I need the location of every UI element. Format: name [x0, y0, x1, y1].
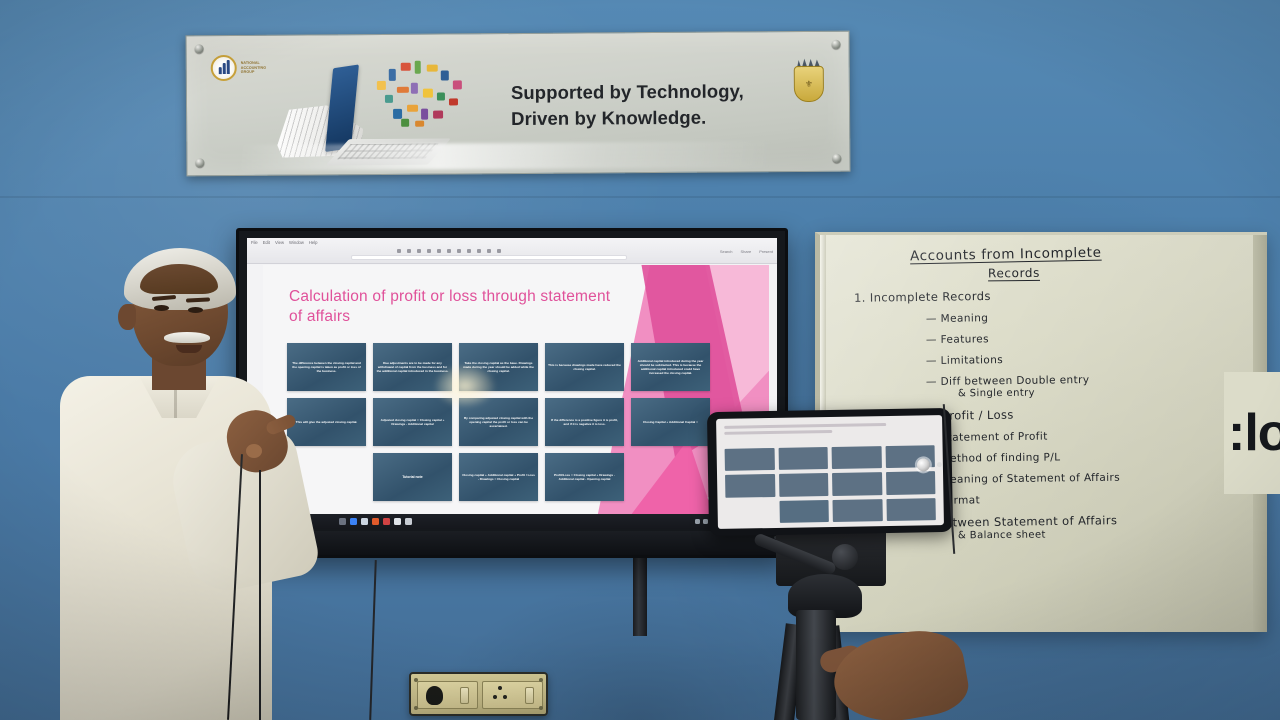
presenter-hair [124, 248, 236, 310]
content-box: By comparing adjusted closing capital wi… [459, 398, 538, 446]
bar-chart-icon [211, 55, 237, 81]
bold-icon[interactable] [447, 249, 451, 253]
app-chrome-bar: File Edit View Window Help [247, 238, 777, 264]
socket-switch[interactable] [460, 687, 469, 704]
undo-icon[interactable] [427, 249, 431, 253]
os-taskbar[interactable]: 5:41 PM 06-08-2021 [247, 514, 777, 529]
powerpoint-slide: Calculation of profit or loss through st… [263, 265, 769, 529]
wall-power-socket[interactable] [409, 672, 548, 716]
image-icon[interactable] [487, 249, 491, 253]
grid-row-1: The difference between the closing capit… [287, 343, 759, 391]
formatting-toolbar[interactable] [397, 249, 501, 253]
screw-icon [539, 706, 543, 710]
grid-row-2: This will give the adjusted closing capi… [287, 398, 759, 446]
presenter-mustache [164, 332, 210, 343]
socket-unit[interactable] [417, 681, 478, 709]
align-icon[interactable] [467, 249, 471, 253]
socket-switch[interactable] [525, 687, 534, 704]
content-box-text: Profit/Loss = Closing capital + Drawings… [548, 473, 621, 481]
wall-plaque: NATIONAL ACCOUNTING GROUP [186, 31, 851, 177]
presenter-eye [188, 307, 203, 313]
tutorial-note-box: Tutorial note [373, 453, 452, 501]
menu-bar[interactable]: File Edit View Window Help [251, 240, 318, 245]
recording-phone[interactable] [707, 408, 953, 536]
content-box: Adjusted closing capital = Closing capit… [373, 398, 452, 446]
preview-box [778, 447, 828, 470]
content-box: Take the closing capital as the base. Dr… [459, 343, 538, 391]
content-box-text: By comparing adjusted closing capital wi… [462, 416, 535, 429]
search-button[interactable]: Search [720, 249, 733, 254]
menu-item-window[interactable]: Window [289, 240, 304, 245]
preview-box [779, 473, 829, 496]
slide-content-grid: The difference between the closing capit… [287, 343, 759, 508]
socket-plug-icon[interactable] [426, 686, 443, 705]
menu-item-edit[interactable]: Edit [263, 240, 270, 245]
share-button[interactable]: Share [741, 249, 752, 254]
college-crest-icon: ⚜ [791, 54, 827, 106]
content-box-text: Tutorial note [402, 475, 422, 480]
content-box-text: This is because drawings made have reduc… [548, 363, 621, 371]
screw-icon [832, 40, 841, 49]
camera-flash-icon [937, 462, 942, 467]
logo-text: NATIONAL ACCOUNTING GROUP [241, 60, 266, 75]
excel-icon[interactable] [405, 518, 412, 525]
preview-box [886, 498, 936, 521]
socket-unit[interactable] [482, 681, 543, 709]
screw-icon [414, 706, 418, 710]
display-screen[interactable]: File Edit View Window Help [247, 238, 777, 529]
screw-icon [414, 678, 418, 682]
plaque-slogan: Supported by Technology, Driven by Knowl… [511, 78, 771, 132]
monitor-stand [633, 558, 647, 636]
content-box: Additional capital introduced during the… [631, 343, 710, 391]
preview-box [779, 500, 829, 523]
content-box-text: If the difference is a positive figure i… [548, 418, 621, 426]
wall-poster: :lo [1224, 372, 1280, 494]
chrome-actions[interactable]: Search Share Present [720, 249, 773, 254]
word-icon[interactable] [394, 518, 401, 525]
italic-icon[interactable] [457, 249, 461, 253]
explorer-icon[interactable] [350, 518, 357, 525]
slogan-line-2: Driven by Knowledge. [511, 104, 771, 132]
phone-slide-title-preview [724, 422, 932, 442]
menu-item-help[interactable]: Help [309, 240, 318, 245]
plaque-glare [187, 141, 849, 172]
content-box-text: Take the closing capital as the base. Dr… [462, 361, 535, 374]
preview-box [886, 471, 936, 494]
preview-box [832, 472, 882, 495]
education-icons-cluster [371, 58, 479, 129]
presenter-person [60, 248, 320, 720]
slide-title: Calculation of profit or loss through st… [289, 287, 619, 327]
content-box-text: Adjusted closing capital = Closing capit… [376, 418, 449, 426]
shape-icon[interactable] [497, 249, 501, 253]
start-icon[interactable] [339, 518, 346, 525]
preview-box [832, 499, 882, 522]
content-box-text: Due adjustments are to be made for any w… [376, 361, 449, 374]
content-box: Profit/Loss = Closing capital + Drawings… [545, 453, 624, 501]
socket-plug-icon[interactable] [491, 685, 509, 705]
media-icon[interactable] [383, 518, 390, 525]
copy-icon[interactable] [407, 249, 411, 253]
chrome-tab-strip[interactable] [351, 255, 627, 260]
powerpoint-icon[interactable] [372, 518, 379, 525]
present-button[interactable]: Present [759, 249, 773, 254]
presenter-thumb [246, 444, 262, 458]
preview-box [725, 474, 775, 497]
presenter-ear [118, 304, 136, 330]
taskbar-app-icons[interactable] [339, 518, 412, 525]
wall-seam [0, 196, 1280, 198]
preview-box [832, 446, 882, 469]
operator-hand [828, 623, 973, 720]
menu-item-file[interactable]: File [251, 240, 258, 245]
presenter-mouth [176, 345, 202, 353]
cut-icon[interactable] [397, 249, 401, 253]
browser-icon[interactable] [361, 518, 368, 525]
content-box: This is because drawings made have reduc… [545, 343, 624, 391]
presenter-eye [154, 305, 169, 311]
menu-item-view[interactable]: View [275, 240, 284, 245]
crest-shield: ⚜ [794, 66, 824, 102]
content-box-text: Closing capital + Additional capital + P… [462, 473, 535, 481]
redo-icon[interactable] [437, 249, 441, 253]
content-box: Closing capital + Additional capital + P… [459, 453, 538, 501]
tripod-lock-knob[interactable] [832, 544, 858, 570]
phone-screen[interactable] [716, 415, 944, 529]
screw-icon [195, 44, 204, 53]
phone-slide-grid-preview [725, 445, 936, 524]
screw-icon [539, 678, 543, 682]
content-box: If the difference is a positive figure i… [545, 398, 624, 446]
poster-text: :lo [1228, 407, 1280, 459]
slogan-line-1: Supported by Technology, [511, 78, 771, 106]
content-box: Due adjustments are to be made for any w… [373, 343, 452, 391]
list-icon[interactable] [477, 249, 481, 253]
microphone-cord-lower [259, 470, 261, 720]
content-box: Closing Capital + Additional Capital = [631, 398, 710, 446]
classroom-scene: NATIONAL ACCOUNTING GROUP [0, 0, 1280, 720]
preview-box [725, 448, 775, 471]
tray-chevron-icon[interactable] [695, 519, 700, 524]
camera-rig [700, 398, 970, 720]
content-box-text: Closing Capital + Additional Capital = [643, 420, 698, 424]
content-box-text: Additional capital introduced during the… [634, 359, 707, 376]
paste-icon[interactable] [417, 249, 421, 253]
